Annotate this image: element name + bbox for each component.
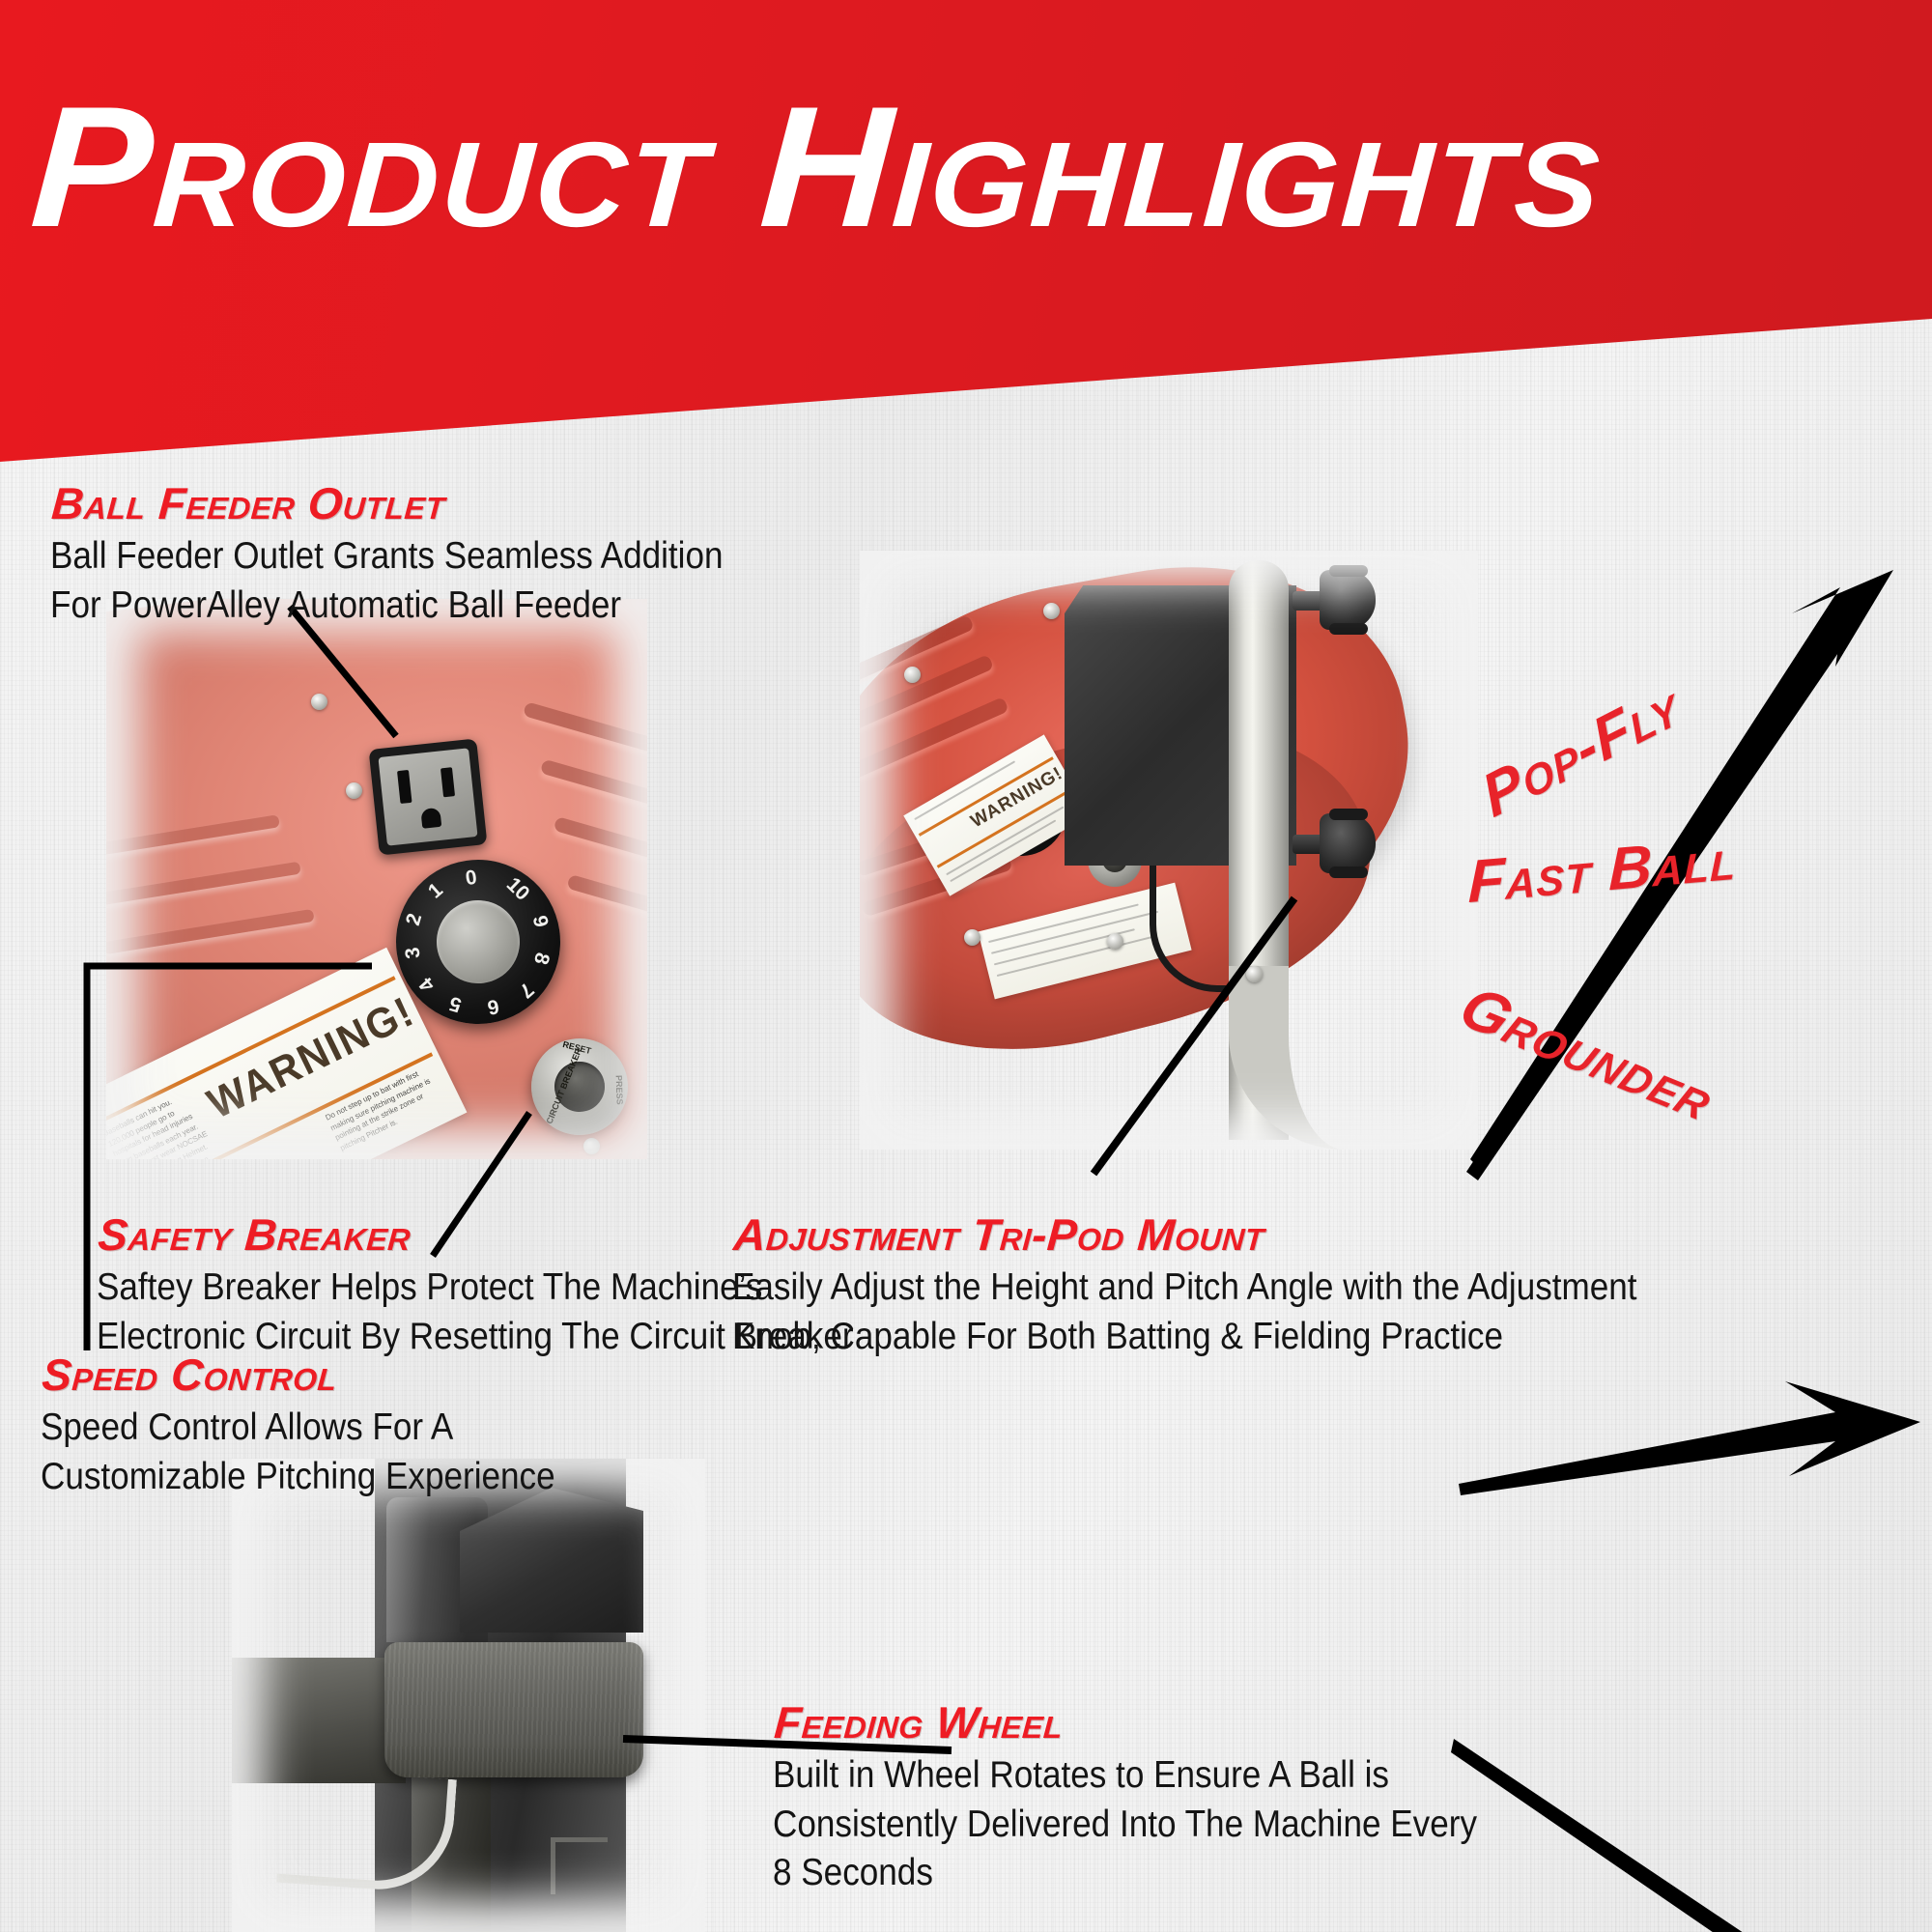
outlet-ground-pin [420, 808, 441, 829]
wheel-arm [232, 1658, 406, 1783]
callout-body: Ball Feeder Outlet Grants Seamless Addit… [50, 532, 724, 630]
callout-heading: Feeding Wheel [773, 1700, 1558, 1746]
arrow-label-grounder: Grounder [1448, 974, 1725, 1134]
wheel-texture [384, 1642, 643, 1777]
dial-hub [431, 895, 525, 988]
knob-head [1320, 570, 1376, 630]
callout-body: Easily Adjust the Height and Pitch Angle… [732, 1264, 1637, 1361]
safety-circuit-breaker-button: RESET CIRCUIT BREAKER PRESS [526, 1034, 633, 1140]
knob-head [1320, 813, 1376, 873]
callout-heading: Adjustment Tri-Pod Mount [732, 1212, 1741, 1258]
ball-feeder-outlet-socket [369, 738, 488, 855]
callout-body: Speed Control Allows For A Customizable … [41, 1404, 555, 1501]
screw [904, 667, 921, 683]
breaker-labels: RESET CIRCUIT BREAKER PRESS [526, 1034, 633, 1140]
screw [964, 929, 980, 946]
outlet-slot-hot [440, 767, 455, 797]
adjustment-knob-upper [1293, 570, 1376, 630]
arrow-label-fast-ball: Fast Ball [1467, 825, 1737, 918]
infographic-page: Product Highlights 0 1 2 [0, 0, 1932, 1932]
screw [1043, 603, 1060, 619]
callout-heading: Speed Control [41, 1352, 615, 1398]
screw [346, 782, 362, 799]
callout-heading: Ball Feeder Outlet [50, 481, 801, 526]
frame-notch [551, 1837, 608, 1894]
screw [311, 694, 327, 710]
arrow-label-pop-fly: Pop-Fly [1473, 670, 1688, 832]
callout-adjustment-tripod-mount: Adjustment Tri-Pod Mount Easily Adjust t… [732, 1212, 1738, 1361]
callout-speed-control: Speed Control Speed Control Allows For A… [41, 1352, 612, 1501]
photo-feeding-wheel [232, 1459, 705, 1932]
adjustment-knob-lower [1293, 813, 1376, 873]
page-title: Product Highlights [27, 81, 1606, 253]
screw [1246, 966, 1263, 982]
screw [583, 1138, 600, 1154]
callout-body: Built in Wheel Rotates to Ensure A Ball … [773, 1751, 1477, 1898]
fast-ball-arrow [1459, 1381, 1920, 1495]
photo-tripod-mount: 0 1 3 4 5 6 7 8 WARNING! [860, 551, 1478, 1150]
photo-outlet-dial-breaker: 0 1 2 3 4 5 6 7 8 9 10 RESET CIRCUIT BRE… [106, 599, 647, 1159]
callout-ball-feeder-outlet: Ball Feeder Outlet Ball Feeder Outlet Gr… [50, 481, 798, 630]
outlet-face [378, 748, 477, 845]
callout-feeding-wheel: Feeding Wheel Built in Wheel Rotates to … [773, 1700, 1555, 1898]
screw [1107, 933, 1123, 950]
outlet-slot-neutral [397, 770, 412, 804]
feeding-wheel [384, 1642, 643, 1777]
